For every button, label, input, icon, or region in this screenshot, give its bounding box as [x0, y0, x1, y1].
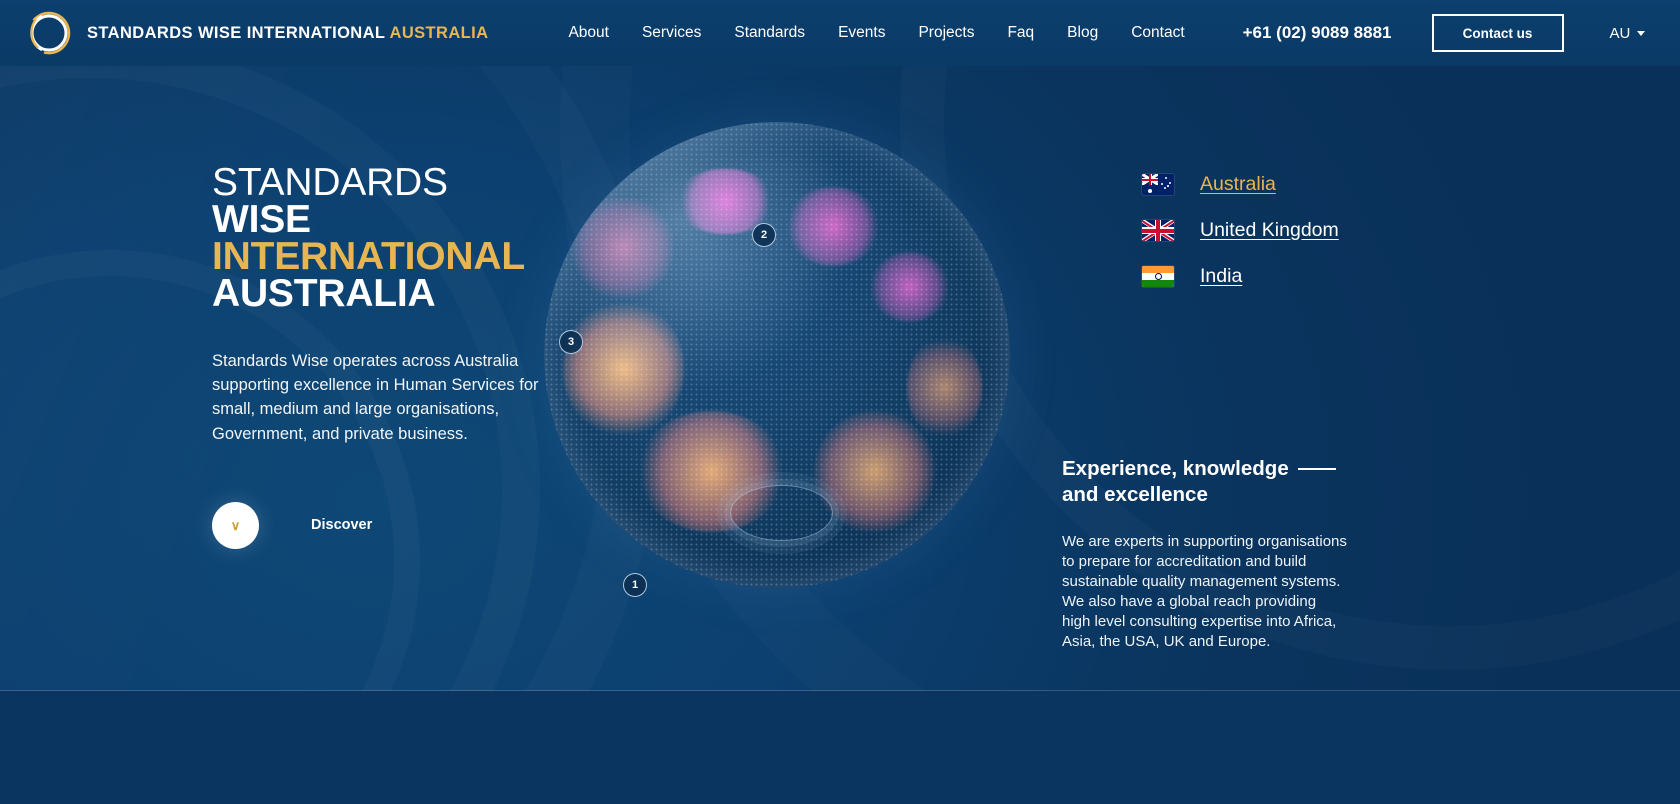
- country-item-india[interactable]: India: [1142, 265, 1339, 288]
- swi-ring-logo-icon: [22, 7, 74, 59]
- hero-left-column: STANDARDS WISE INTERNATIONAL AUSTRALIA S…: [212, 164, 542, 549]
- footer-strip: [0, 691, 1680, 804]
- discover-scroll-button[interactable]: ∨: [212, 502, 259, 549]
- experience-block: Experience, knowledge and excellence We …: [1062, 456, 1347, 652]
- nav-item-blog[interactable]: Blog: [1067, 24, 1098, 42]
- language-selector[interactable]: AU: [1610, 25, 1646, 42]
- globe-marker-2[interactable]: 2: [752, 223, 776, 247]
- experience-title: Experience, knowledge and excellence: [1062, 456, 1292, 508]
- heading-rule: [1298, 468, 1336, 470]
- discover-label[interactable]: Discover: [311, 517, 372, 533]
- country-label-india[interactable]: India: [1200, 265, 1242, 288]
- page-title: STANDARDS WISE INTERNATIONAL AUSTRALIA: [212, 164, 542, 312]
- country-label-australia[interactable]: Australia: [1200, 173, 1276, 196]
- nav-item-faq[interactable]: Faq: [1007, 24, 1034, 42]
- flag-australia-icon: [1142, 174, 1174, 195]
- main-navigation: About Services Standards Events Projects…: [568, 24, 1184, 42]
- nav-item-services[interactable]: Services: [642, 24, 701, 42]
- experience-heading-row: Experience, knowledge and excellence: [1062, 456, 1347, 508]
- country-list: Australia United Kingdom India: [1142, 173, 1339, 311]
- site-header: STANDARDS WISE INTERNATIONAL AUSTRALIA A…: [0, 0, 1680, 66]
- hero-bottom-divider: [0, 690, 1680, 691]
- language-selector-label: AU: [1610, 25, 1631, 42]
- nav-item-standards[interactable]: Standards: [734, 24, 805, 42]
- experience-body: We are experts in supporting organisatio…: [1062, 532, 1347, 652]
- globe-rim: [544, 122, 1010, 588]
- nav-item-events[interactable]: Events: [838, 24, 885, 42]
- flag-india-icon: [1142, 266, 1174, 287]
- globe-marker-1[interactable]: 1: [623, 573, 647, 597]
- chevron-down-icon: [1637, 31, 1645, 36]
- country-item-australia[interactable]: Australia: [1142, 173, 1339, 196]
- logo-wordmark-main: STANDARDS WISE INTERNATIONAL: [87, 24, 385, 42]
- site-logo[interactable]: STANDARDS WISE INTERNATIONAL AUSTRALIA: [22, 7, 488, 59]
- contact-us-button[interactable]: Contact us: [1432, 14, 1564, 52]
- hero-title-country: AUSTRALIA: [212, 272, 436, 315]
- discover-row: ∨ Discover: [212, 502, 542, 549]
- header-phone-number[interactable]: +61 (02) 9089 8881: [1243, 23, 1392, 43]
- nav-item-about[interactable]: About: [568, 24, 609, 42]
- logo-wordmark: STANDARDS WISE INTERNATIONAL AUSTRALIA: [87, 24, 488, 43]
- globe-dotted-icon: [544, 122, 1010, 588]
- hero-subtitle: Standards Wise operates across Australia…: [212, 349, 542, 446]
- experience-title-line2: and excellence: [1062, 483, 1208, 506]
- experience-title-line1: Experience, knowledge: [1062, 457, 1289, 480]
- globe-marker-3[interactable]: 3: [559, 330, 583, 354]
- logo-wordmark-accent: AUSTRALIA: [390, 24, 489, 42]
- chevron-down-icon: ∨: [231, 519, 241, 532]
- nav-item-projects[interactable]: Projects: [918, 24, 974, 42]
- country-item-united-kingdom[interactable]: United Kingdom: [1142, 219, 1339, 242]
- globe-visualization[interactable]: 1 2 3: [544, 122, 1010, 588]
- nav-item-contact[interactable]: Contact: [1131, 24, 1184, 42]
- country-label-united-kingdom[interactable]: United Kingdom: [1200, 219, 1339, 242]
- flag-united-kingdom-icon: [1142, 220, 1174, 241]
